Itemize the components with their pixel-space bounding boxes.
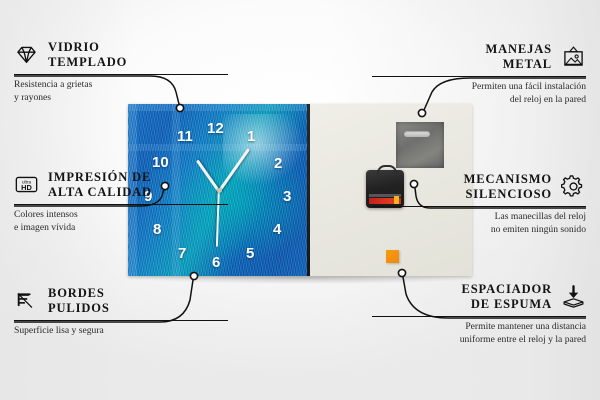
feature-title-line1: VIDRIO	[48, 40, 127, 55]
feature-description: Las manecillas del reloj no emiten ningú…	[372, 211, 586, 237]
feature-desc-line2: uniforme entre el reloj y la pared	[372, 334, 586, 347]
metal-hanger-plate	[396, 122, 444, 168]
feature-desc-line1: Las manecillas del reloj	[372, 211, 586, 224]
feature-description: Superficie lisa y segura	[14, 325, 228, 338]
feature-title: MECANISMO SILENCIOSO	[464, 172, 552, 202]
feature-title: VIDRIO TEMPLADO	[48, 40, 127, 70]
feature-title-line1: MANEJAS	[485, 42, 552, 57]
feature-bordes-pulidos: BORDES PULIDOS Superficie lisa y segura	[14, 286, 228, 338]
clock-numeral-12: 12	[207, 121, 224, 136]
feature-title-line1: MECANISMO	[464, 172, 552, 187]
feature-description: Colores intensos e imagen vívida	[14, 209, 228, 235]
feature-rule	[14, 74, 228, 76]
feature-manejas-metal: MANEJAS METAL Permiten una fácil instala…	[372, 42, 586, 107]
feature-desc-line1: Superficie lisa y segura	[14, 325, 228, 338]
feature-desc-line1: Permite mantener una distancia	[372, 321, 586, 334]
ultra-hd-icon-bottom: HD	[21, 183, 32, 192]
feature-desc-line2: no emiten ningún sonido	[372, 224, 586, 237]
gear-icon	[561, 174, 586, 199]
feature-impresion-alta-calidad: ultra HD IMPRESIÓN DE ALTA CALIDAD Color…	[14, 170, 228, 235]
clock-highlight	[223, 114, 307, 186]
clock-numeral-11: 11	[177, 129, 193, 144]
feature-header: BORDES PULIDOS	[14, 286, 228, 316]
clock-numeral-3: 3	[283, 189, 291, 204]
clock-numeral-7: 7	[178, 246, 186, 261]
feature-rule	[14, 320, 228, 322]
clock-numeral-2: 2	[274, 156, 282, 171]
feature-vidrio-templado: VIDRIO TEMPLADO Resistencia a grietas y …	[14, 40, 228, 105]
feature-title: ESPACIADOR DE ESPUMA	[462, 282, 552, 312]
feature-desc-line1: Colores intensos	[14, 209, 228, 222]
feature-title-line2: PULIDOS	[48, 301, 110, 316]
clock-numeral-1: 1	[247, 129, 255, 144]
clock-numeral-6: 6	[212, 255, 220, 270]
feature-header: MANEJAS METAL	[372, 42, 586, 72]
infographic-canvas: 12 1 2 3 4 5 6 7 8 9 10 11	[0, 0, 600, 400]
feature-title-line2: METAL	[485, 57, 552, 72]
feature-title: BORDES PULIDOS	[48, 286, 110, 316]
diagonal-stripes-icon	[14, 288, 39, 313]
feature-description: Permite mantener una distancia uniforme …	[372, 321, 586, 347]
feature-desc-line2: del reloj en la pared	[372, 94, 586, 107]
feature-desc-line1: Resistencia a grietas	[14, 79, 228, 92]
panel-edge	[307, 104, 310, 276]
feature-desc-line2: e imagen vívida	[14, 222, 228, 235]
feature-description: Permiten una fácil instalación del reloj…	[372, 81, 586, 107]
hanger-slot	[404, 131, 430, 137]
feature-rule	[372, 316, 586, 318]
feature-espaciador-espuma: ESPACIADOR DE ESPUMA Permite mantener un…	[372, 282, 586, 347]
feature-desc-line1: Permiten una fácil instalación	[372, 81, 586, 94]
feature-header: ESPACIADOR DE ESPUMA	[372, 282, 586, 312]
clock-numeral-4: 4	[273, 222, 281, 237]
feature-title-line2: SILENCIOSO	[464, 187, 552, 202]
feature-header: ultra HD IMPRESIÓN DE ALTA CALIDAD	[14, 170, 228, 200]
feature-title-line2: TEMPLADO	[48, 55, 127, 70]
feature-title-line1: BORDES	[48, 286, 110, 301]
clock-numeral-5: 5	[246, 246, 254, 261]
feature-header: VIDRIO TEMPLADO	[14, 40, 228, 70]
clock-numeral-10: 10	[152, 155, 169, 170]
feature-description: Resistencia a grietas y rayones	[14, 79, 228, 105]
feature-title: IMPRESIÓN DE ALTA CALIDAD	[48, 170, 152, 200]
press-down-pad-icon	[561, 284, 586, 309]
ultra-hd-icon: ultra HD	[14, 172, 39, 197]
framed-picture-icon	[561, 44, 586, 69]
feature-mecanismo-silencioso: MECANISMO SILENCIOSO Las manecillas del …	[372, 172, 586, 237]
feature-rule	[372, 206, 586, 208]
feature-title-line2: DE ESPUMA	[462, 297, 552, 312]
feature-title: MANEJAS METAL	[485, 42, 552, 72]
feature-title-line1: ESPACIADOR	[462, 282, 552, 297]
feature-title-line1: IMPRESIÓN DE	[48, 170, 152, 185]
feature-rule	[372, 76, 586, 78]
feature-desc-line2: y rayones	[14, 92, 228, 105]
feature-header: MECANISMO SILENCIOSO	[372, 172, 586, 202]
feature-title-line2: ALTA CALIDAD	[48, 185, 152, 200]
foam-spacer	[386, 250, 399, 263]
feature-rule	[14, 204, 228, 206]
diamond-icon	[14, 42, 39, 67]
